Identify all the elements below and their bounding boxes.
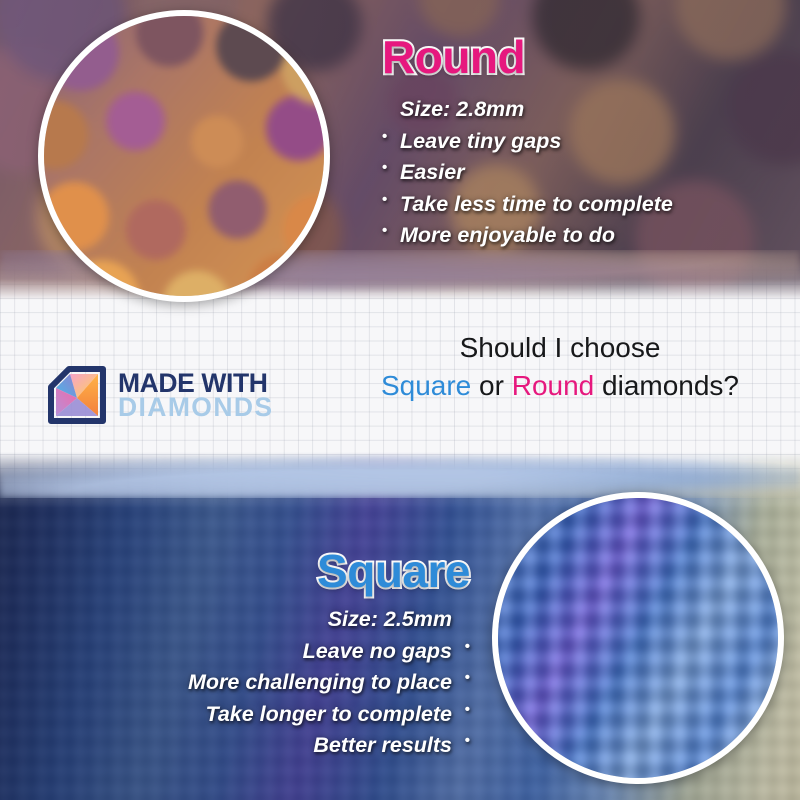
round-bullet-2: Easier [382, 157, 782, 189]
question-tail: diamonds? [594, 370, 739, 401]
question-word-round: Round [512, 370, 595, 401]
square-bullet-4: Better results [40, 730, 470, 762]
diamond-gem-icon [48, 366, 106, 424]
round-bullet-1: Leave tiny gaps [382, 126, 782, 158]
square-heading: Square [40, 548, 470, 594]
square-inset-image [492, 492, 784, 784]
round-info-block: Round Size: 2.8mm Leave tiny gaps Easier… [382, 34, 782, 252]
square-size-line: Size: 2.5mm [40, 604, 470, 636]
question-text: Should I choose Square or Round diamonds… [340, 330, 780, 405]
question-line-1: Should I choose [340, 330, 780, 366]
question-conjunction: or [471, 370, 511, 401]
brand-wordmark: MADE WITH DIAMONDS [118, 371, 273, 420]
square-bullet-1: Leave no gaps [40, 636, 470, 668]
square-bullet-3: Take longer to complete [40, 699, 470, 731]
round-bullet-3: Take less time to complete [382, 189, 782, 221]
round-heading: Round [382, 34, 782, 80]
round-size-line: Size: 2.8mm [382, 94, 782, 126]
square-drills-circle-inset [492, 492, 784, 784]
round-inset-image [38, 10, 330, 302]
brand-name-line2: DIAMONDS [118, 395, 273, 419]
question-word-square: Square [381, 370, 471, 401]
round-spec-list: Size: 2.8mm Leave tiny gaps Easier Take … [382, 94, 782, 252]
question-line-2: Square or Round diamonds? [340, 368, 780, 404]
square-spec-list: Size: 2.5mm Leave no gaps More challengi… [40, 604, 470, 762]
brand-logo: MADE WITH DIAMONDS [48, 366, 273, 424]
round-drills-circle-inset [38, 10, 330, 302]
round-bullet-4: More enjoyable to do [382, 220, 782, 252]
square-info-block: Square Size: 2.5mm Leave no gaps More ch… [40, 548, 470, 762]
infographic-canvas: Round Size: 2.8mm Leave tiny gaps Easier… [0, 0, 800, 800]
square-bullet-2: More challenging to place [40, 667, 470, 699]
